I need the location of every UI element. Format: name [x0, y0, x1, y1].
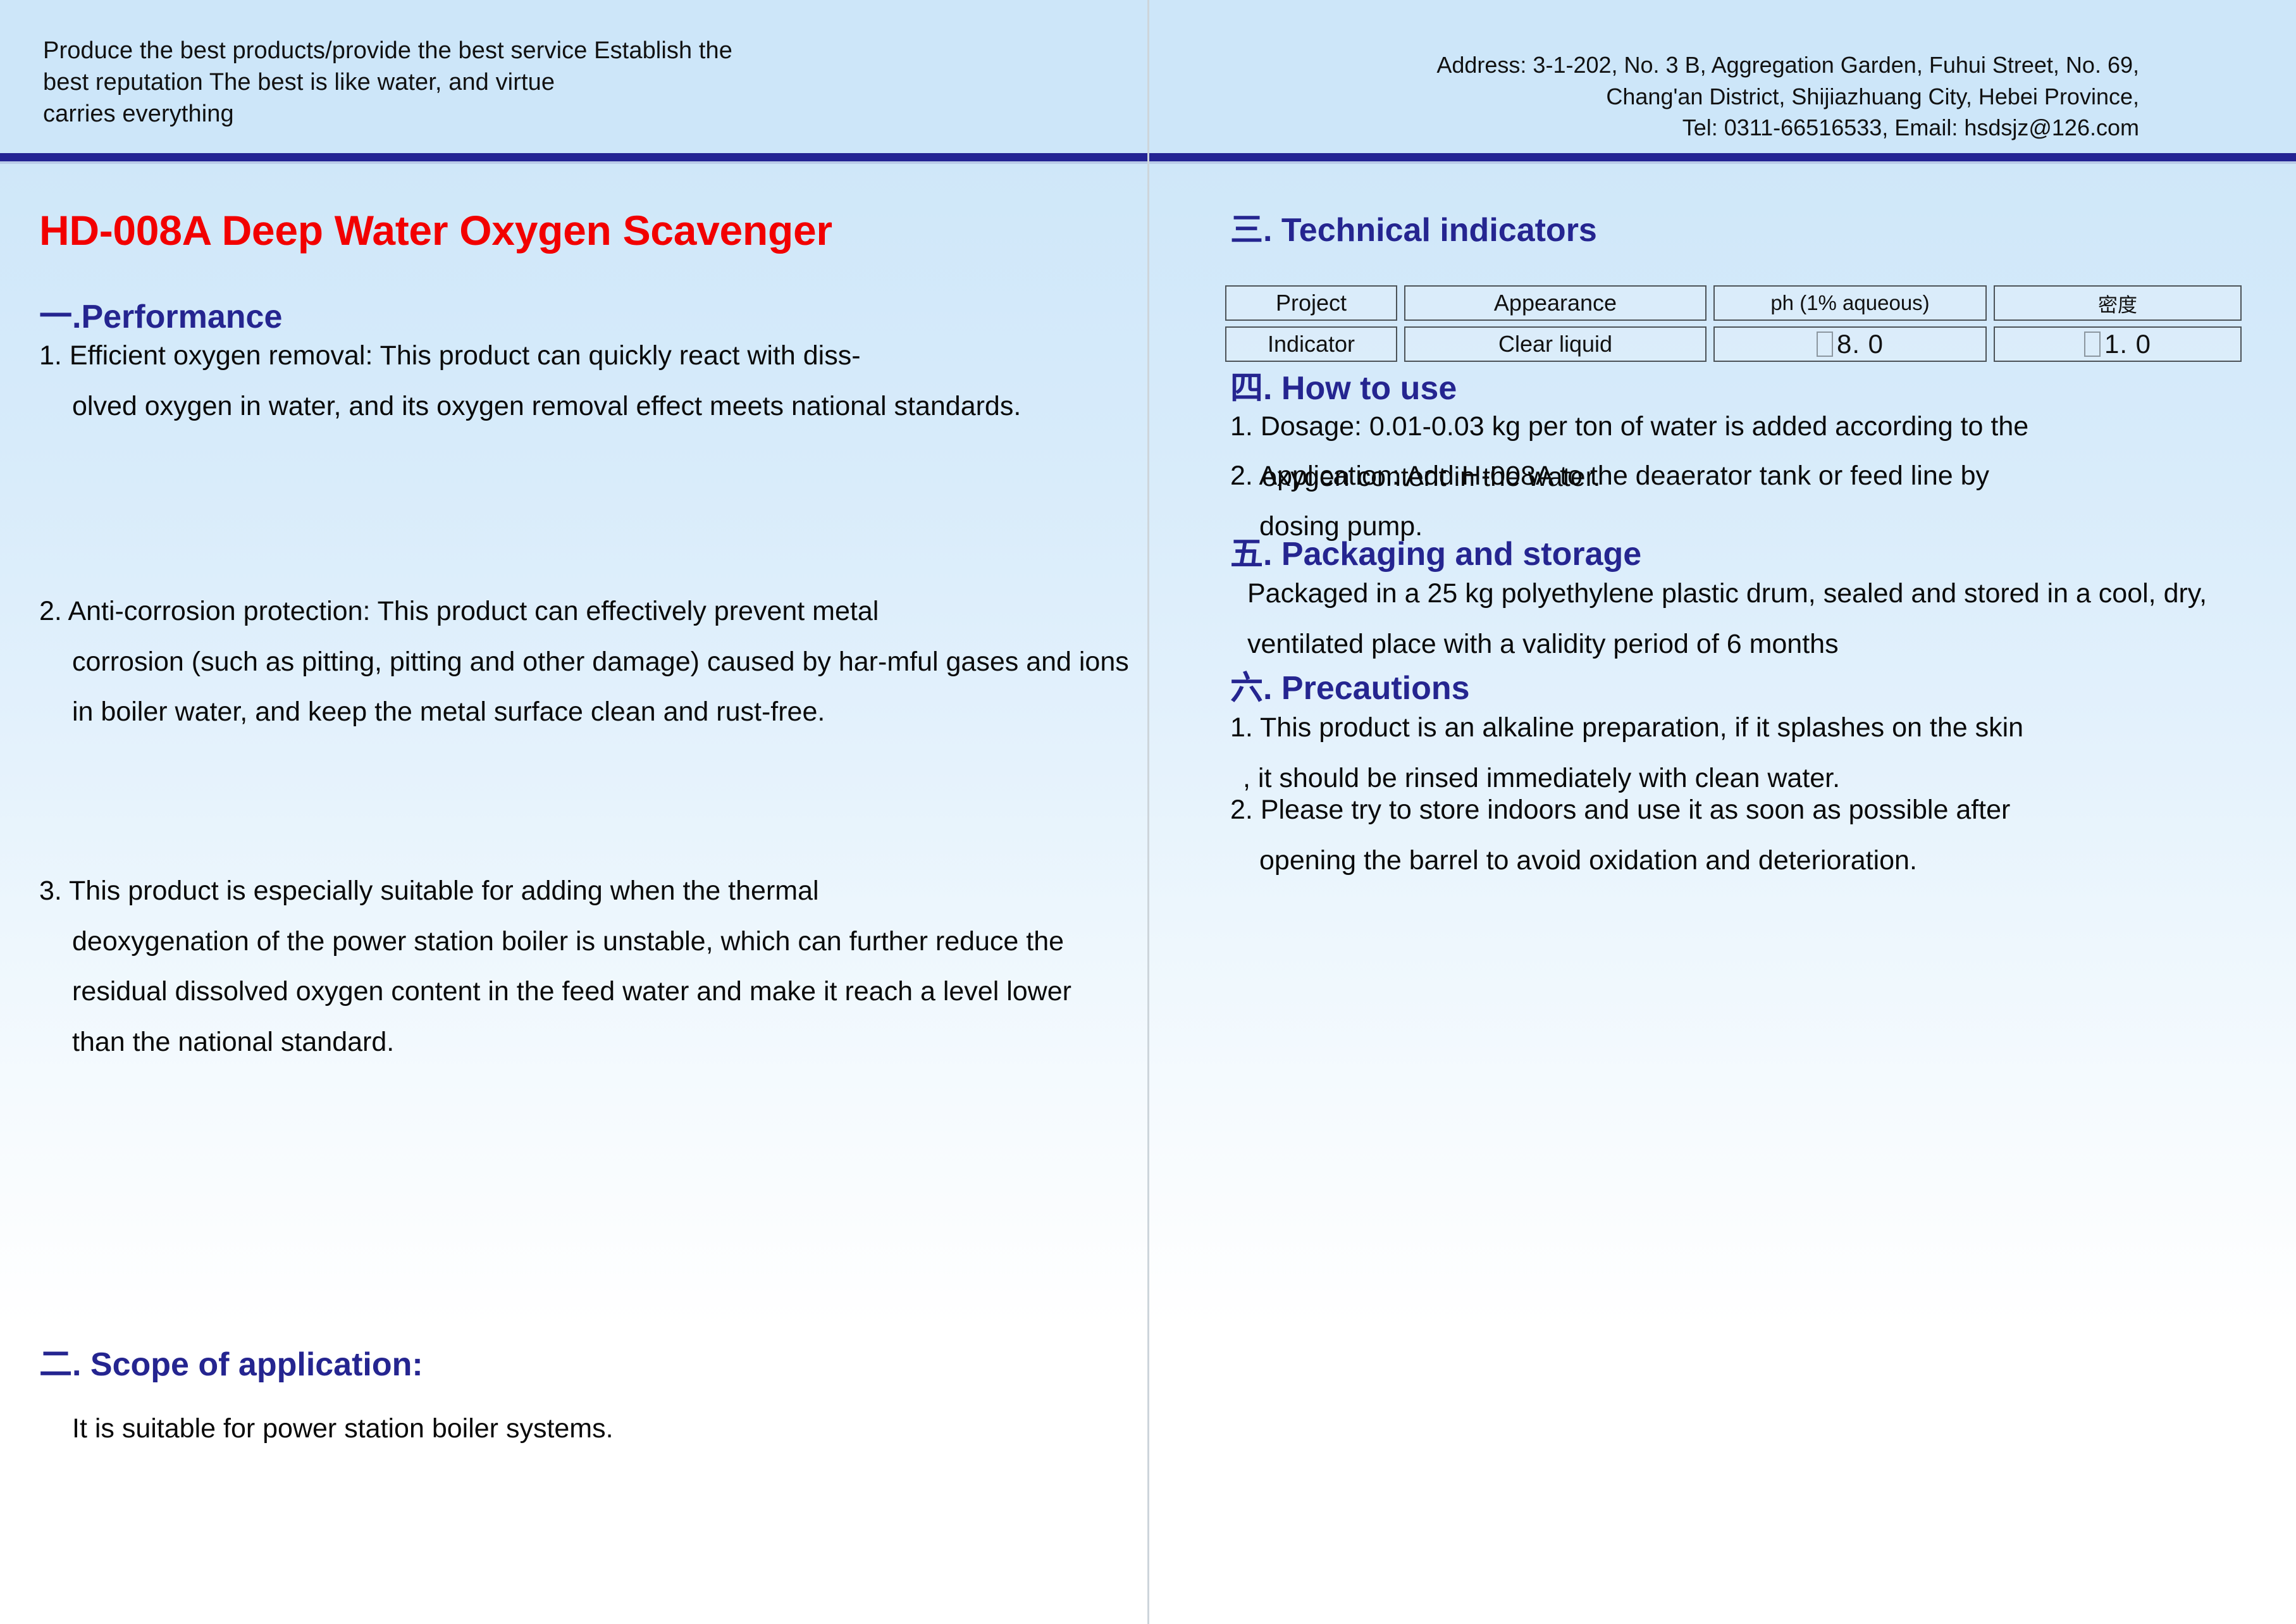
technical-indicators-table: Project Appearance ph (1% aqueous) 密度 In… — [1225, 285, 2281, 368]
company-contact-info: Address: 3-1-202, No. 3 B, Aggregation G… — [1304, 49, 2139, 144]
left-column: HD-008A Deep Water Oxygen Scavenger 一.Pe… — [0, 164, 1147, 1624]
table-row-header: Project Appearance ph (1% aqueous) 密度 — [1225, 285, 2281, 321]
table-cell-density-header: 密度 — [1994, 285, 2242, 321]
performance-item-1-line1: Efficient oxygen removal: This product c… — [70, 340, 861, 371]
precautions-item-1-line1: This product is an alkaline preparation,… — [1260, 712, 2023, 743]
performance-item-2: 2. Anti-corrosion protection: This produ… — [39, 586, 1133, 738]
ph-value-text: 8. 0 — [1837, 329, 1884, 359]
precautions-item-2-marker: 2. — [1230, 795, 1261, 825]
packaging-body-text: Packaged in a 25 kg polyethylene plastic… — [1247, 569, 2272, 669]
section-heading-technical-indicators: 三. Technical indicators — [1230, 203, 1597, 251]
performance-item-3: 3. This product is especially suitable f… — [39, 866, 1121, 1067]
how-to-use-item-2-line1: Application: Add H-008A to the deaerator… — [1259, 461, 1989, 491]
performance-item-3-line1: This product is especially suitable for … — [69, 876, 819, 906]
performance-item-1: 1. Efficient oxygen removal: This produc… — [39, 331, 1114, 431]
performance-item-1-marker: 1. — [39, 340, 70, 371]
table-cell-indicator-label: Indicator — [1225, 326, 1397, 362]
table-cell-project-header: Project — [1225, 285, 1397, 321]
right-column: 三. Technical indicators Project Appearan… — [1149, 164, 2296, 1624]
performance-item-3-rest: deoxygenation of the power station boile… — [39, 917, 1121, 1068]
how-to-use-item-1-line1: Dosage: 0.01-0.03 kg per ton of water is… — [1261, 411, 2028, 442]
section-heading-packaging-and-storage: 五. Packaging and storage — [1230, 527, 1641, 574]
table-cell-density-value: 1. 0 — [1994, 326, 2242, 362]
performance-item-1-rest: olved oxygen in water, and its oxygen re… — [39, 381, 1114, 432]
company-slogan: Produce the best products/provide the be… — [43, 35, 789, 130]
precautions-item-2-line1: Please try to store indoors and use it a… — [1261, 795, 2011, 825]
performance-item-3-marker: 3. — [39, 876, 69, 906]
performance-item-2-rest: corrosion (such as pitting, pitting and … — [39, 637, 1133, 738]
how-to-use-item-1-marker: 1. — [1230, 411, 1261, 442]
section-heading-performance: 一.Performance — [39, 290, 282, 337]
table-cell-appearance-value: Clear liquid — [1404, 326, 1707, 362]
precautions-item-2-rest: opening the barrel to avoid oxidation an… — [1230, 836, 2287, 886]
precautions-item-2: 2. Please try to store indoors and use i… — [1230, 785, 2287, 886]
section-heading-scope-of-application: 二. Scope of application: — [39, 1337, 423, 1385]
performance-item-2-marker: 2. — [39, 596, 68, 626]
missing-glyph-icon — [2084, 332, 2101, 357]
density-value-text: 1. 0 — [2104, 329, 2151, 359]
document-page: Produce the best products/provide the be… — [0, 0, 2296, 1624]
table-row-values: Indicator Clear liquid 8. 0 1. 0 — [1225, 326, 2281, 362]
precautions-item-1-marker: 1. — [1230, 712, 1260, 743]
section-heading-precautions: 六. Precautions — [1230, 661, 1470, 709]
missing-glyph-icon — [1817, 332, 1833, 357]
scope-body-text: It is suitable for power station boiler … — [72, 1404, 1116, 1454]
table-cell-ph-header: ph (1% aqueous) — [1713, 285, 1987, 321]
performance-item-2-line1: Anti-corrosion protection: This product … — [68, 596, 879, 626]
table-cell-appearance-header: Appearance — [1404, 285, 1707, 321]
product-title: HD-008A Deep Water Oxygen Scavenger — [39, 206, 832, 254]
how-to-use-item-2-marker: 2. — [1230, 461, 1259, 491]
table-cell-ph-value: 8. 0 — [1713, 326, 1987, 362]
